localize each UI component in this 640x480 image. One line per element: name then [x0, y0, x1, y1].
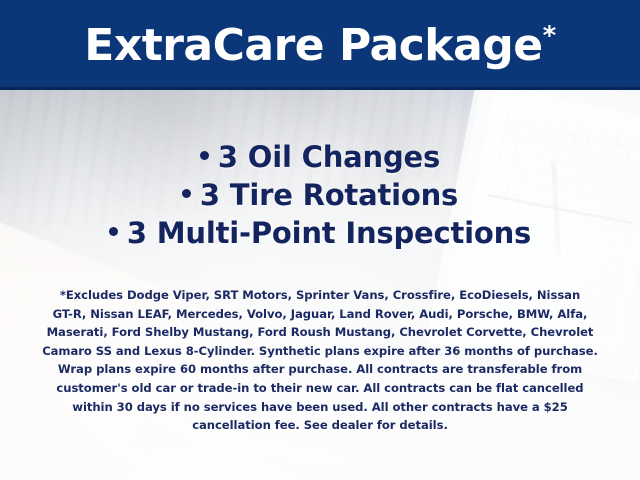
list-item: 3 Tire Rotations: [0, 176, 640, 214]
bullet-icon: [200, 151, 209, 160]
page-title-text: ExtraCare Package: [84, 20, 542, 71]
list-item-label: 3 Multi-Point Inspections: [127, 216, 531, 250]
page-title-asterisk: *: [543, 21, 556, 51]
bullet-icon: [109, 227, 118, 236]
disclaimer-line: customer's old car or trade-in to their …: [26, 379, 614, 398]
list-item-label: 3 Tire Rotations: [200, 178, 458, 212]
page-title: ExtraCare Package*: [84, 23, 555, 68]
list-item: 3 Oil Changes: [0, 138, 640, 176]
extracare-package-ad: ExtraCare Package* 3 Oil Changes 3 Tire …: [0, 0, 640, 480]
bullet-icon: [182, 189, 191, 198]
list-item-label: 3 Oil Changes: [218, 140, 440, 174]
disclaimer-text: *Excludes Dodge Viper, SRT Motors, Sprin…: [26, 286, 614, 435]
disclaimer-line: *Excludes Dodge Viper, SRT Motors, Sprin…: [26, 286, 614, 305]
disclaimer-line: Camaro SS and Lexus 8-Cylinder. Syntheti…: [26, 342, 614, 361]
disclaimer-line: Wrap plans expire 60 months after purcha…: [26, 360, 614, 379]
disclaimer-line: GT-R, Nissan LEAF, Mercedes, Volvo, Jagu…: [26, 305, 614, 324]
list-item: 3 Multi-Point Inspections: [0, 214, 640, 252]
disclaimer-line: Maserati, Ford Shelby Mustang, Ford Rous…: [26, 323, 614, 342]
disclaimer-line: within 30 days if no services have been …: [26, 398, 614, 417]
header-banner: ExtraCare Package*: [0, 0, 640, 90]
benefits-list: 3 Oil Changes 3 Tire Rotations 3 Multi-P…: [0, 138, 640, 252]
disclaimer-line: cancellation fee. See dealer for details…: [26, 416, 614, 435]
